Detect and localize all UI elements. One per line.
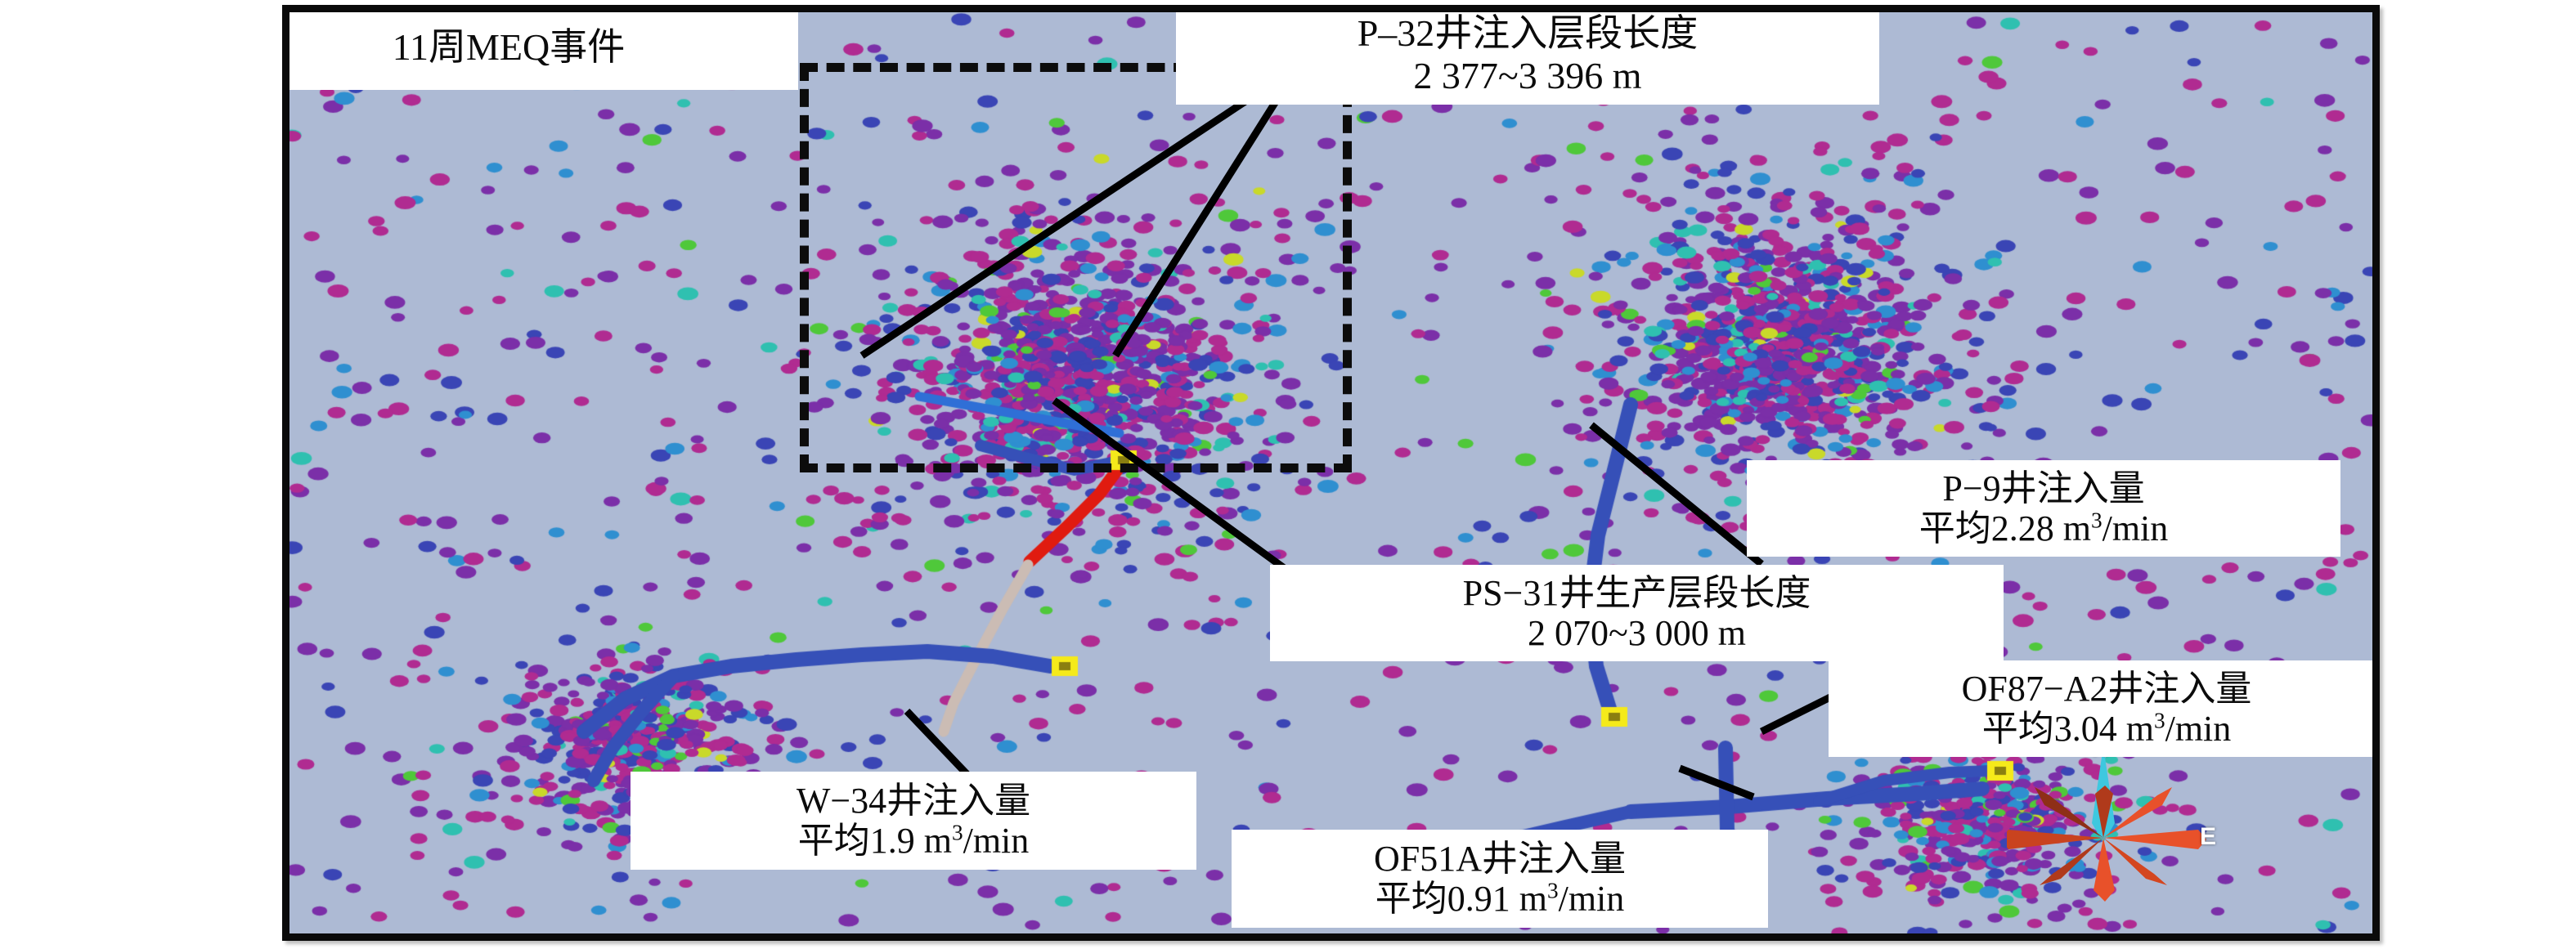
callout-line-1: OF87−A2井注入量: [1962, 669, 2252, 709]
callout-line-2: 2 070~3 000 m: [1528, 613, 1746, 653]
figure-root: N E 11周MEQ事件P‒32井注入层段长度2 377~3 396 mP−9井…: [0, 0, 2576, 949]
ray-s: [2094, 838, 2115, 902]
callout-p9-injection-rate: P−9井注入量平均2.28 m3/min: [1747, 460, 2340, 557]
roi-dashed-rectangle: [800, 63, 1352, 473]
callout-w34-injection-rate: W−34井注入量平均1.9 m3/min: [631, 772, 1196, 870]
callout-meq-events: 11周MEQ事件: [289, 12, 798, 90]
callout-line-2: 平均0.91 m3/min: [1376, 879, 1625, 919]
ray-ne: [2103, 787, 2172, 838]
callout-line-1: P‒32井注入层段长度: [1358, 12, 1699, 55]
callout-line-1: 11周MEQ事件: [393, 26, 626, 69]
compass-label-east: E: [2200, 823, 2216, 851]
callout-ps31-production-interval: PS−31井生产层段长度2 070~3 000 m: [1270, 565, 2004, 661]
callout-line-1: PS−31井生产层段长度: [1463, 573, 1811, 613]
compass-rose: N E: [2007, 740, 2219, 907]
callout-line-1: OF51A井注入量: [1374, 839, 1626, 879]
callout-of87a2-injection-rate: OF87−A2井注入量平均3.04 m3/min: [1829, 660, 2372, 757]
callout-line-2: 平均2.28 m3/min: [1919, 508, 2169, 548]
callout-line-1: W−34井注入量: [797, 781, 1030, 821]
ray-nw: [2035, 787, 2103, 838]
ray-sw: [2040, 838, 2103, 885]
callout-of51a-injection-rate: OF51A井注入量平均0.91 m3/min: [1232, 830, 1768, 928]
callout-line-2: 2 377~3 396 m: [1413, 55, 1641, 97]
callout-line-2: 平均3.04 m3/min: [1982, 709, 2232, 749]
callout-line-2: 平均1.9 m3/min: [798, 821, 1030, 861]
ray-w: [2007, 830, 2103, 849]
microseismic-map: N E 11周MEQ事件P‒32井注入层段长度2 377~3 396 mP−9井…: [289, 12, 2372, 933]
image-frame: N E 11周MEQ事件P‒32井注入层段长度2 377~3 396 mP−9井…: [282, 5, 2380, 941]
ray-se: [2103, 838, 2167, 885]
callout-p32-injection-interval: P‒32井注入层段长度2 377~3 396 m: [1176, 12, 1879, 105]
ray-e: [2103, 830, 2206, 849]
callout-line-1: P−9井注入量: [1942, 468, 2144, 508]
